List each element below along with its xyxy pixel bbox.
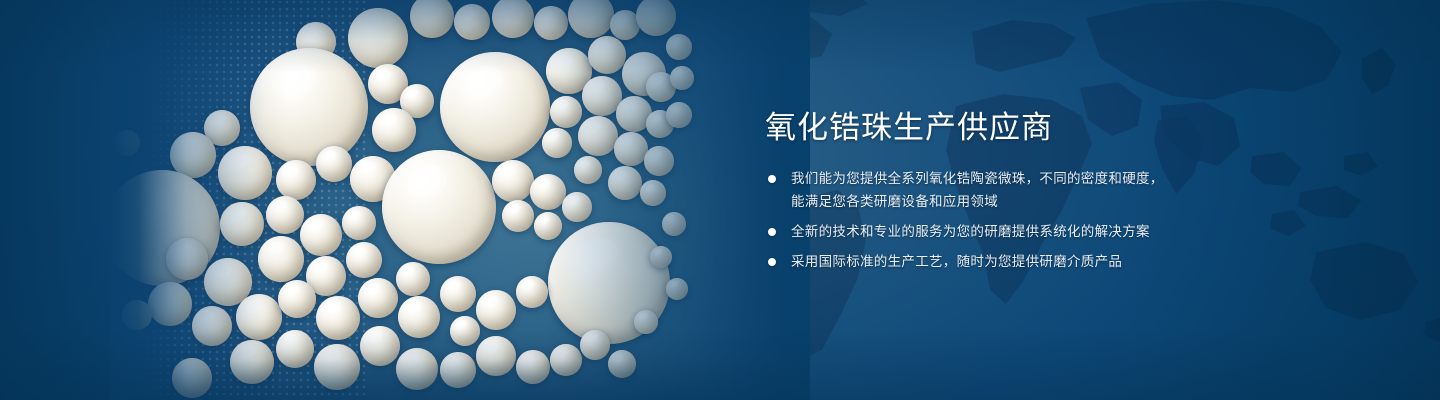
bullet-item: 全新的技术和专业的服务为您的研磨提供系统化的解决方案 — [765, 220, 1285, 243]
bullet-dot-icon — [768, 175, 776, 183]
bullet-item: 我们能为您提供全系列氧化锆陶瓷微珠，不同的密度和硬度， 能满足您各类研磨设备和应… — [765, 167, 1285, 213]
bullet-dot-icon — [768, 228, 776, 236]
bullet-item: 采用国际标准的生产工艺，随时为您提供研磨介质产品 — [765, 250, 1285, 273]
banner-headline: 氧化锆珠生产供应商 — [765, 108, 1053, 148]
bullet-line: 全新的技术和专业的服务为您的研磨提供系统化的解决方案 — [791, 220, 1285, 243]
bullet-line: 采用国际标准的生产工艺，随时为您提供研磨介质产品 — [791, 250, 1285, 273]
banner-content: 氧化锆珠生产供应商 我们能为您提供全系列氧化锆陶瓷微珠，不同的密度和硬度， 能满… — [765, 0, 1285, 400]
bullet-dot-icon — [768, 258, 776, 266]
bullet-line: 能满足您各类研磨设备和应用领域 — [791, 190, 1285, 213]
bullet-line: 我们能为您提供全系列氧化锆陶瓷微珠，不同的密度和硬度， — [791, 167, 1285, 190]
banner-bullet-list: 我们能为您提供全系列氧化锆陶瓷微珠，不同的密度和硬度， 能满足您各类研磨设备和应… — [765, 167, 1285, 280]
hero-banner: 氧化锆珠生产供应商 我们能为您提供全系列氧化锆陶瓷微珠，不同的密度和硬度， 能满… — [0, 0, 1440, 400]
